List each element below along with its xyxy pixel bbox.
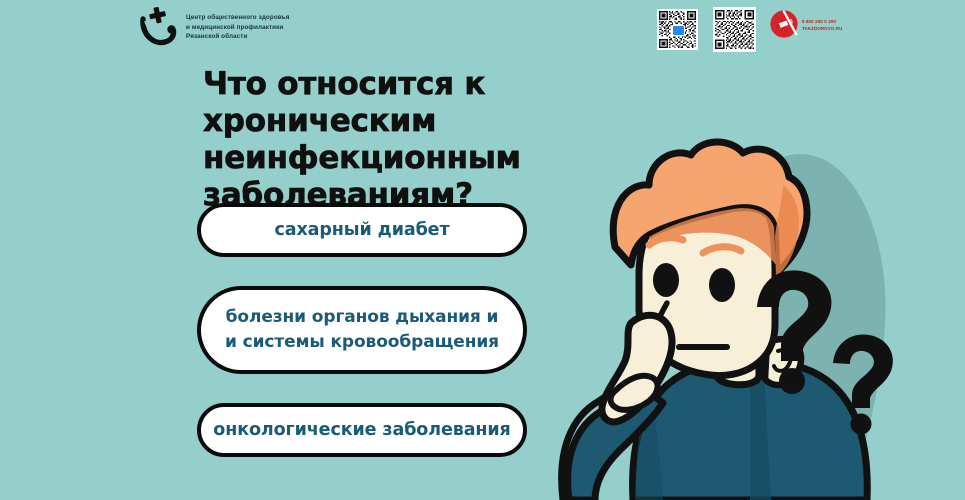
answer-option-oncology[interactable]: онкологические заболевания (197, 403, 527, 457)
vk-logo-icon (672, 25, 685, 36)
answer-option-diabetes[interactable]: сахарный диабет (197, 203, 527, 257)
org-logo-text: Центр общественного здоровья и медицинск… (186, 7, 289, 42)
takzdorovo-text: 8 800 200 0 200 TAKZDOROVO.RU (802, 17, 842, 31)
qr-pattern (715, 9, 754, 50)
takzdorovo-phone: 8 800 200 0 200 (802, 19, 842, 24)
org-logo: Центр общественного здоровья и медицинск… (138, 7, 289, 49)
right-eye (709, 268, 735, 302)
thinking-man-illustration (545, 125, 965, 500)
left-eye (653, 263, 679, 297)
poster-root: Центр общественного здоровья и медицинск… (0, 0, 965, 500)
takzdorovo-logo[interactable]: 8 800 200 0 200 TAKZDOROVO.RU (770, 10, 842, 38)
vk-qr-code[interactable] (657, 9, 698, 50)
answer-option-respiratory-circulatory[interactable]: болезни органов дыхания и и системы кров… (197, 286, 527, 374)
takzdorovo-site: TAKZDOROVO.RU (802, 26, 842, 31)
no-smoking-circle-icon (770, 10, 798, 38)
answer-options-list: сахарный диабет болезни органов дыхания … (197, 203, 527, 457)
health-center-emblem-icon (138, 7, 180, 49)
header-bar: Центр общественного здоровья и медицинск… (0, 0, 965, 58)
thinking-man-svg (545, 125, 965, 500)
site-qr-code[interactable] (713, 7, 756, 52)
